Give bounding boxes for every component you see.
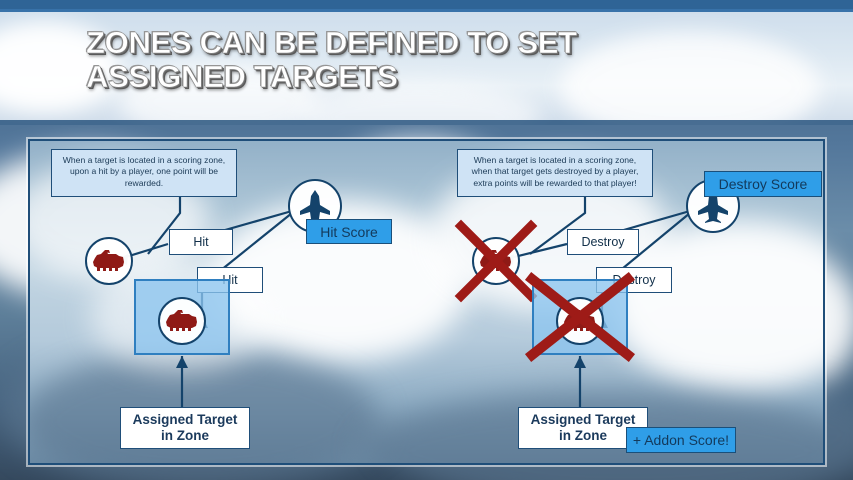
left-scenario-callout: When a target is located in a scoring zo… bbox=[51, 149, 237, 197]
right-zone-label-line-2: in Zone bbox=[559, 428, 607, 444]
left-zone-label[interactable]: Assigned Target in Zone bbox=[120, 407, 250, 449]
right-action-label-top[interactable]: Destroy bbox=[567, 229, 639, 255]
right-scenario-callout: When a target is located in a scoring zo… bbox=[457, 149, 653, 197]
right-score-label[interactable]: Destroy Score bbox=[704, 171, 822, 197]
tank-target-icon bbox=[92, 250, 126, 272]
left-target-icon-circle[interactable] bbox=[85, 237, 133, 285]
left-zone-label-line-1: Assigned Target bbox=[133, 412, 238, 428]
tank-target-icon bbox=[165, 310, 199, 332]
right-target-icon-circle[interactable] bbox=[472, 237, 520, 285]
tank-target-icon bbox=[479, 250, 513, 272]
right-zone-label-line-1: Assigned Target bbox=[531, 412, 636, 428]
right-zone-target-icon-circle[interactable] bbox=[556, 297, 604, 345]
fighter-jet-icon bbox=[296, 189, 334, 223]
left-score-label[interactable]: Hit Score bbox=[306, 219, 392, 244]
page-title-line-2: ASSIGNED TARGETS bbox=[86, 60, 746, 94]
left-action-label-top[interactable]: Hit bbox=[169, 229, 233, 255]
addon-score-label[interactable]: + Addon Score! bbox=[626, 427, 736, 453]
page-title: ZONES CAN BE DEFINED TO SET ASSIGNED TAR… bbox=[86, 26, 746, 94]
header-divider bbox=[0, 120, 853, 125]
page-title-line-1: ZONES CAN BE DEFINED TO SET bbox=[86, 26, 746, 60]
slide-canvas: ZONES CAN BE DEFINED TO SET ASSIGNED TAR… bbox=[0, 0, 853, 480]
tank-target-icon bbox=[563, 310, 597, 332]
left-zone-target-icon-circle[interactable] bbox=[158, 297, 206, 345]
diagram-panel: When a target is located in a scoring zo… bbox=[28, 139, 825, 465]
left-zone-label-line-2: in Zone bbox=[161, 428, 209, 444]
